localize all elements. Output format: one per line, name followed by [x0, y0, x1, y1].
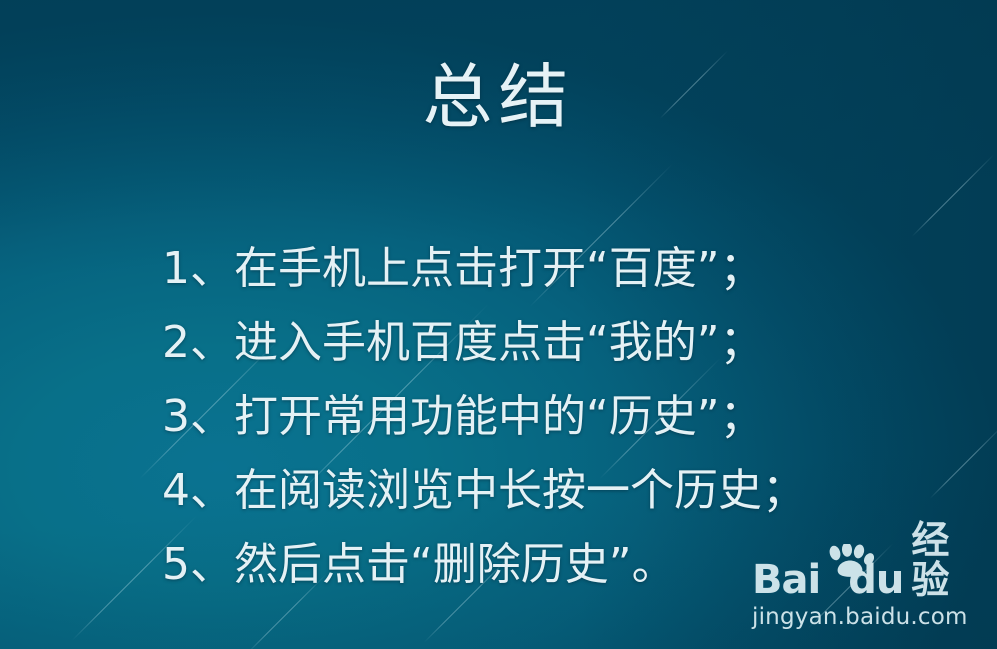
diagonal-streak-line [912, 154, 995, 237]
list-item: 3、打开常用功能中的“历史”； [162, 380, 862, 454]
watermark-brand-bai: Bai [752, 560, 820, 600]
watermark-logo-row: Bai du 经验 [752, 548, 978, 600]
summary-slide: 总结 1、在手机上点击打开“百度”； 2、进入手机百度点击“我的”； 3、打开常… [0, 0, 997, 649]
list-item: 2、进入手机百度点击“我的”； [162, 306, 862, 380]
watermark-brand-cn: 经验 [911, 520, 978, 600]
list-item: 1、在手机上点击打开“百度”； [162, 232, 862, 306]
paw-print-icon [826, 544, 874, 578]
list-item: 4、在阅读浏览中长按一个历史； [162, 454, 862, 528]
steps-list: 1、在手机上点击打开“百度”； 2、进入手机百度点击“我的”； 3、打开常用功能… [162, 232, 862, 602]
watermark-url: jingyan.baidu.com [752, 604, 978, 630]
page-title: 总结 [0, 62, 997, 132]
diagonal-streak-line [930, 425, 997, 499]
baidu-jingyan-watermark: Bai du 经验 jingyan.baidu.com [752, 548, 978, 632]
